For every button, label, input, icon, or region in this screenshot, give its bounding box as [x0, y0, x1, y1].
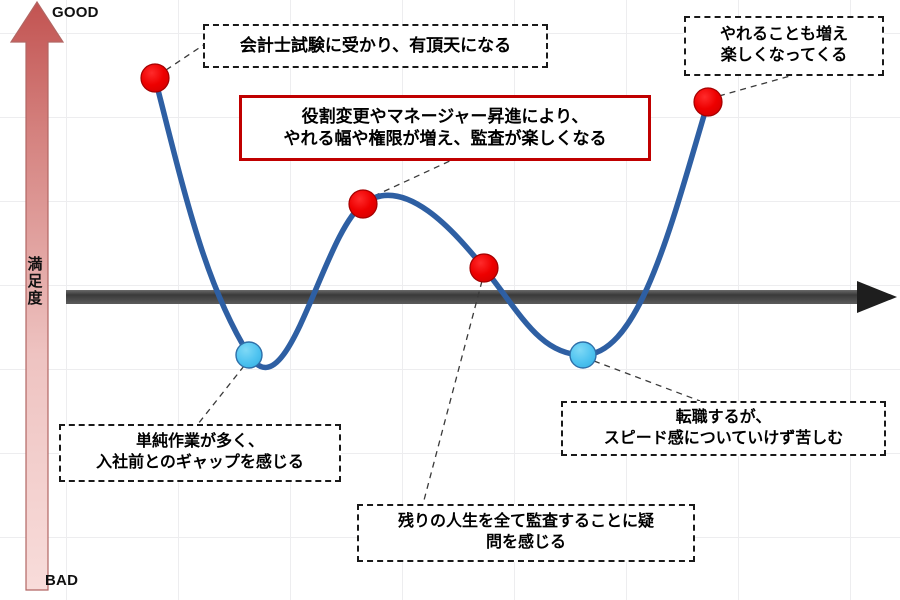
callout-growth-fun[interactable]: やれることも増え 楽しくなってくる [684, 16, 884, 76]
leader-line [166, 44, 205, 70]
callout-line: 楽しくなってくる [721, 46, 847, 67]
leader-line [374, 160, 452, 196]
callout-exam-pass[interactable]: 会計士試験に受かり、有頂天になる [203, 24, 548, 68]
leader-line [594, 361, 700, 401]
data-point-marker-low[interactable] [570, 342, 596, 368]
leader-line [198, 366, 244, 424]
satisfaction-journey-chart: GOOD BAD 満 足 度 [0, 0, 900, 600]
callout-line: 単純作業が多く、 [136, 432, 264, 453]
callout-job-change-struggle[interactable]: 転職するが、 スピード感についていけず苦しむ [561, 401, 886, 456]
data-point-marker-low[interactable] [236, 342, 262, 368]
leader-line [423, 281, 482, 504]
callout-line: やれる幅や権限が増え、監査が楽しくなる [284, 128, 607, 150]
callout-line: 残りの人生を全て監査することに疑 [398, 512, 654, 533]
data-point-marker-high[interactable] [694, 88, 722, 116]
callout-line: 転職するが、 [676, 408, 772, 429]
callout-line: 会計士試験に受かり、有頂天になる [240, 35, 511, 57]
data-point-marker-high[interactable] [470, 254, 498, 282]
data-point-marker-high[interactable] [349, 190, 377, 218]
callout-line: 入社前とのギャップを感じる [96, 453, 304, 474]
callout-simple-work-gap[interactable]: 単純作業が多く、 入社前とのギャップを感じる [59, 424, 341, 482]
callout-audit-doubt[interactable]: 残りの人生を全て監査することに疑 問を感じる [357, 504, 695, 562]
x-axis-arrow-icon [66, 281, 897, 313]
leader-line [719, 76, 790, 96]
callout-promotion[interactable]: 役割変更やマネージャー昇進により、 やれる幅や権限が増え、監査が楽しくなる [239, 95, 651, 161]
data-point-marker-high[interactable] [141, 64, 169, 92]
callout-line: やれることも増え [720, 25, 848, 46]
callout-line: 役割変更やマネージャー昇進により、 [302, 106, 589, 128]
callout-line: スピード感についていけず苦しむ [604, 429, 844, 450]
callout-line: 問を感じる [486, 533, 566, 554]
